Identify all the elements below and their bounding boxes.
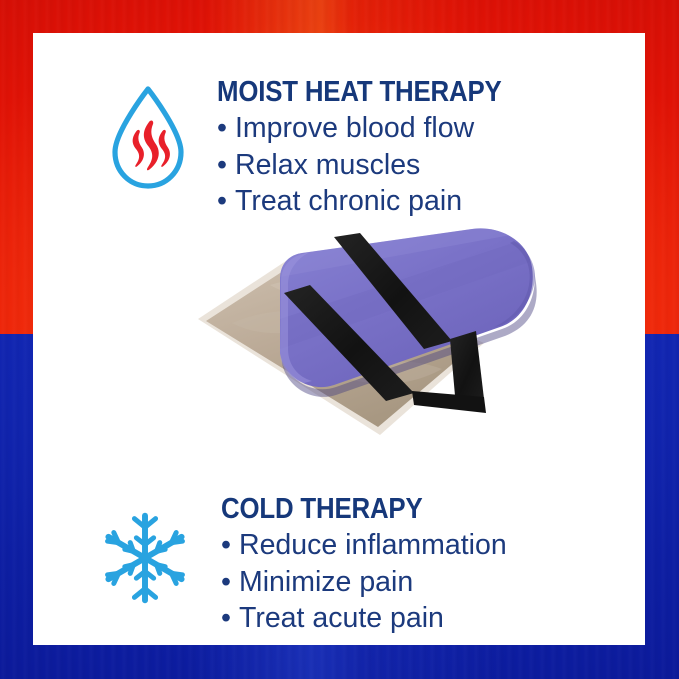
list-item: • Reduce inflammation bbox=[221, 527, 637, 563]
bullet-dot-icon: • bbox=[221, 564, 231, 600]
snowflake-icon bbox=[97, 508, 193, 608]
section-cold-therapy: COLD THERAPY • Reduce inflammation • Min… bbox=[97, 476, 637, 637]
bullet-dot-icon: • bbox=[217, 110, 227, 146]
list-item: • Relax muscles bbox=[217, 147, 625, 183]
bullet-dot-icon: • bbox=[217, 183, 227, 219]
bullet-dot-icon: • bbox=[221, 600, 231, 636]
product-infographic: MOIST HEAT THERAPY • Improve blood flow … bbox=[0, 0, 679, 679]
list-item-label: Relax muscles bbox=[235, 147, 420, 183]
bullet-dot-icon: • bbox=[221, 527, 231, 563]
bullet-dot-icon: • bbox=[217, 147, 227, 183]
heading-cold-therapy: COLD THERAPY bbox=[221, 494, 591, 524]
section-moist-heat-therapy: MOIST HEAT THERAPY • Improve blood flow … bbox=[105, 77, 625, 220]
list-item: • Treat chronic pain bbox=[217, 183, 625, 219]
list-item: • Treat acute pain bbox=[221, 600, 637, 636]
list-item-label: Minimize pain bbox=[239, 564, 413, 600]
water-droplet-with-flames-icon bbox=[105, 83, 191, 193]
list-item-label: Treat chronic pain bbox=[235, 183, 462, 219]
list-item-label: Improve blood flow bbox=[235, 110, 474, 146]
heat-text-block: MOIST HEAT THERAPY • Improve blood flow … bbox=[191, 77, 625, 220]
list-item-label: Reduce inflammation bbox=[239, 527, 507, 563]
product-photo bbox=[184, 223, 544, 453]
heading-moist-heat-therapy: MOIST HEAT THERAPY bbox=[217, 77, 580, 107]
list-item-label: Treat acute pain bbox=[239, 600, 444, 636]
list-item: • Minimize pain bbox=[221, 564, 637, 600]
heat-benefit-list: • Improve blood flow • Relax muscles • T… bbox=[217, 110, 625, 219]
content-panel: MOIST HEAT THERAPY • Improve blood flow … bbox=[33, 33, 645, 645]
cold-benefit-list: • Reduce inflammation • Minimize pain • … bbox=[221, 527, 637, 636]
list-item: • Improve blood flow bbox=[217, 110, 625, 146]
cold-text-block: COLD THERAPY • Reduce inflammation • Min… bbox=[193, 476, 637, 637]
